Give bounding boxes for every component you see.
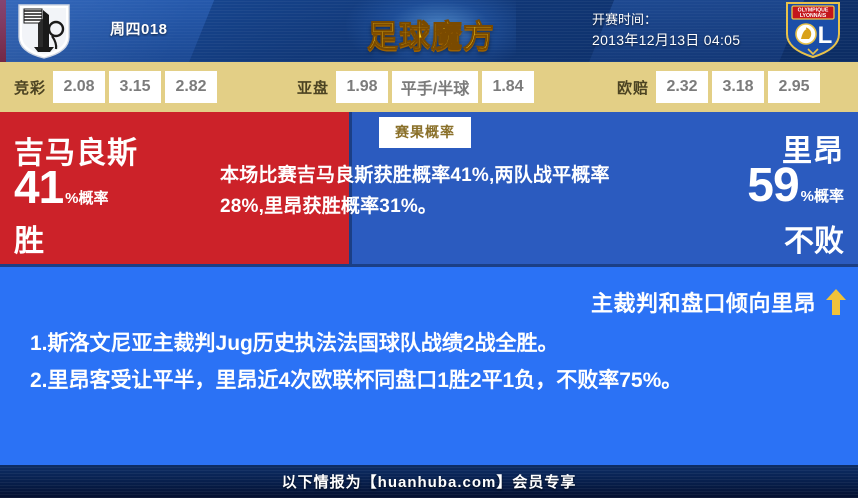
arrow-up-shaft bbox=[832, 298, 840, 315]
away-percent-number: 59 bbox=[747, 159, 798, 212]
odds-group-label: 亚盘 bbox=[297, 77, 329, 98]
odds-group-jingcai: 竞彩 2.08 3.15 2.82 bbox=[14, 71, 221, 103]
odds-cell-handicap[interactable]: 平手/半球 bbox=[392, 71, 478, 103]
analysis-section: 主裁判和盘口倾向里昂 1.斯洛文尼亚主裁判Jug历史执法法国球队战绩2战全胜。 … bbox=[0, 267, 858, 465]
odds-group-european: 欧赔 2.32 3.18 2.95 bbox=[617, 71, 824, 103]
probability-summary-text: 本场比赛吉马良斯获胜概率41%,两队战平概率28%,里昂获胜概率31%。 bbox=[220, 160, 632, 222]
odds-cell-home[interactable]: 2.32 bbox=[656, 71, 708, 103]
away-probability-value: 59%概率 bbox=[747, 162, 844, 210]
analysis-headline: 主裁判和盘口倾向里昂 bbox=[591, 286, 816, 318]
odds-cell-away[interactable]: 2.82 bbox=[165, 71, 217, 103]
brand-text: 足球魔方 bbox=[351, 11, 511, 56]
footer-bar: 以下情报为【huanhuba.com】会员专享 bbox=[0, 465, 858, 498]
home-percent-number: 41 bbox=[14, 161, 63, 213]
match-header: 周四018 足球魔方 开赛时间： 2013年12月13日 04:05 OLYMP… bbox=[0, 0, 858, 62]
kickoff-label: 开赛时间： bbox=[592, 10, 740, 30]
home-percent-suffix: %概率 bbox=[65, 190, 108, 207]
odds-bar: 竞彩 2.08 3.15 2.82 亚盘 1.98 平手/半球 1.84 欧赔 … bbox=[0, 62, 858, 112]
odds-cell-draw[interactable]: 3.15 bbox=[109, 71, 161, 103]
analysis-point: 1.斯洛文尼亚主裁判Jug历史执法法国球队战绩2战全胜。 bbox=[30, 325, 840, 362]
kickoff-time-block: 开赛时间： 2013年12月13日 04:05 bbox=[592, 10, 740, 50]
analysis-point: 2.里昂客受让平半，里昂近4次欧联杯同盘口1胜2平1负，不败率75%。 bbox=[30, 362, 840, 399]
infographic-root: 周四018 足球魔方 开赛时间： 2013年12月13日 04:05 OLYMP… bbox=[0, 0, 858, 498]
odds-cell-draw[interactable]: 3.18 bbox=[712, 71, 764, 103]
svg-text:L: L bbox=[818, 22, 833, 49]
odds-group-label: 欧赔 bbox=[617, 77, 649, 98]
away-team-crest-icon: OLYMPIQUE LYONNAIS L bbox=[784, 1, 842, 59]
footer-notice: 以下情报为【huanhuba.com】会员专享 bbox=[282, 471, 577, 492]
home-result-label: 胜 bbox=[14, 216, 44, 260]
home-team-crest-icon bbox=[16, 3, 72, 60]
arrow-up-icon bbox=[826, 289, 846, 315]
analysis-points-list: 1.斯洛文尼亚主裁判Jug历史执法法国球队战绩2战全胜。 2.里昂客受让平半，里… bbox=[30, 325, 840, 399]
site-brand-logo[interactable]: 足球魔方 bbox=[351, 0, 511, 62]
away-result-label: 不败 bbox=[784, 216, 844, 260]
odds-group-asian-handicap: 亚盘 1.98 平手/半球 1.84 bbox=[297, 71, 538, 103]
analysis-headline-row: 主裁判和盘口倾向里昂 bbox=[591, 286, 846, 318]
svg-text:LYONNAIS: LYONNAIS bbox=[800, 13, 827, 19]
odds-cell-home[interactable]: 2.08 bbox=[53, 71, 105, 103]
odds-cell-away[interactable]: 2.95 bbox=[768, 71, 820, 103]
kickoff-value: 2013年12月13日 04:05 bbox=[592, 30, 740, 50]
odds-group-label: 竞彩 bbox=[14, 77, 46, 98]
away-percent-suffix: %概率 bbox=[801, 188, 844, 205]
odds-cell-home[interactable]: 1.98 bbox=[336, 71, 388, 103]
odds-cell-away[interactable]: 1.84 bbox=[482, 71, 534, 103]
match-number: 周四018 bbox=[110, 18, 168, 39]
tab-result-probability[interactable]: 赛果概率 bbox=[379, 117, 471, 148]
home-probability-value: 41%概率 bbox=[14, 164, 109, 210]
